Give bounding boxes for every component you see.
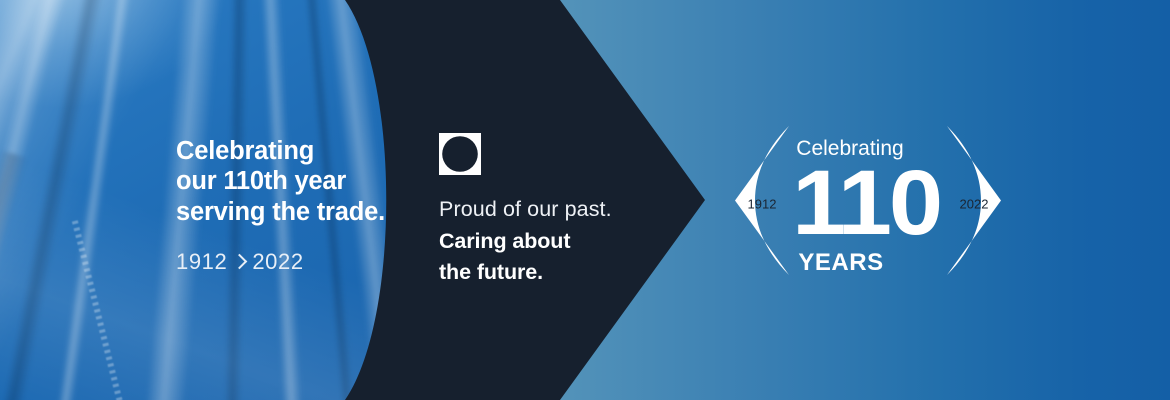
anniversary-badge: 1912 2022 Celebrating 110 YEARS — [733, 118, 1003, 283]
badge-left-wing-year: 1912 — [748, 196, 777, 211]
tagline-bold-line-1: Caring about — [439, 228, 699, 255]
badge-right-wing-year: 2022 — [960, 196, 989, 211]
year-to: 2022 — [252, 249, 303, 275]
headline-line-1: Celebrating — [176, 136, 406, 166]
badge-number: 110 — [792, 152, 940, 255]
left-headline-block: Celebrating our 110th year serving the t… — [176, 136, 406, 275]
headline-line-2: our 110th year — [176, 166, 406, 196]
badge-caption: YEARS — [798, 249, 883, 276]
chevron-right-icon — [232, 253, 248, 269]
tagline-light: Proud of our past. — [439, 196, 699, 224]
year-from: 1912 — [176, 249, 227, 275]
tagline-bold-line-2: the future. — [439, 259, 699, 286]
center-copy-block: Proud of our past. Caring about the futu… — [439, 133, 699, 286]
headline-line-3: serving the trade. — [176, 197, 406, 227]
year-range: 1912 2022 — [176, 249, 406, 275]
ring-square-logo-icon — [439, 133, 481, 175]
anniversary-banner: Celebrating our 110th year serving the t… — [0, 0, 1170, 400]
